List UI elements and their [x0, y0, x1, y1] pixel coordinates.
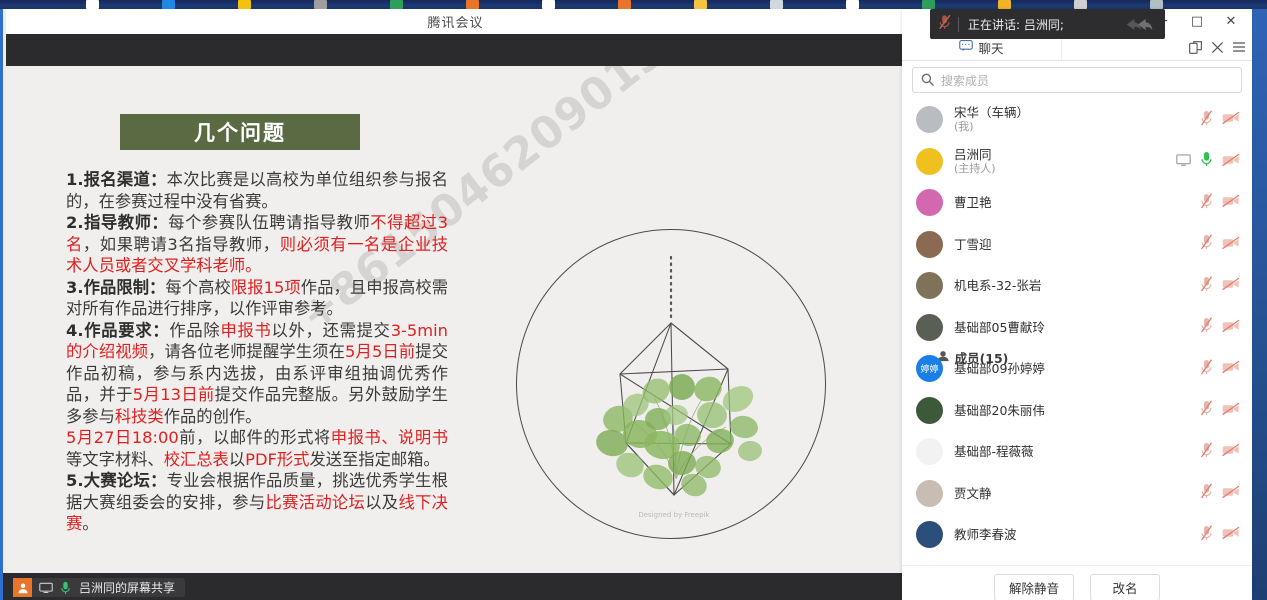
member-row[interactable]: 曹卫艳: [902, 182, 1252, 224]
taskbar-icon[interactable]: [618, 0, 631, 9]
hanging-planter-graphic: [516, 229, 826, 539]
member-name-block: 教师李春波: [954, 527, 1200, 542]
member-role: (主持人): [954, 162, 1176, 176]
screen-share-viewport: 腾讯会议 +8615046209013 几个问题 1.报名渠道：本次比赛是以高校…: [0, 9, 902, 600]
taskbar-icon[interactable]: [922, 0, 935, 9]
toast-divider: [958, 17, 959, 32]
member-role: (我): [954, 120, 1200, 134]
member-name: 丁雪迎: [954, 237, 1200, 252]
mic-muted-icon[interactable]: [1200, 359, 1213, 379]
member-row[interactable]: 基础部05曹献玲: [902, 307, 1252, 349]
slide-text-run: 作品除: [169, 321, 220, 340]
member-name: 贾文静: [954, 486, 1200, 501]
member-status-icons: [1200, 110, 1240, 130]
camera-off-icon[interactable]: [1222, 276, 1240, 295]
camera-off-icon[interactable]: [1222, 484, 1240, 503]
screen-root: 腾讯会议 +8615046209013 几个问题 1.报名渠道：本次比赛是以高校…: [0, 0, 1267, 600]
avatar: 婷婷: [916, 355, 943, 382]
search-placeholder: 搜索成员: [941, 72, 989, 89]
taskbar-icon[interactable]: [466, 0, 479, 9]
member-name-block: 丁雪迎: [954, 237, 1200, 252]
taskbar-icon[interactable]: [770, 0, 783, 9]
avatar: [916, 189, 943, 216]
camera-off-icon[interactable]: [1222, 525, 1240, 544]
member-status-icons: [1200, 442, 1240, 462]
taskbar-icon[interactable]: [846, 0, 859, 9]
muted-mic-icon: [938, 14, 952, 34]
close-window-button[interactable]: ✕: [1214, 10, 1248, 33]
avatar: [916, 438, 943, 465]
taskbar-icon[interactable]: [314, 0, 327, 9]
taskbar-icon[interactable]: [998, 0, 1011, 9]
mic-muted-icon[interactable]: [1200, 234, 1213, 254]
reply-arrows-icon[interactable]: [1123, 16, 1157, 33]
mic-icon: [60, 581, 71, 595]
slide-text-run: 等文字材料、: [66, 450, 164, 469]
member-name-block: 曹卫艳: [954, 195, 1200, 210]
avatar: [916, 231, 943, 258]
slide-illustration: Designed by Freepik: [516, 229, 826, 539]
presentation-slide: +8615046209013 几个问题 1.报名渠道：本次比赛是以高校为单位组织…: [6, 66, 905, 573]
member-row[interactable]: 宋华（车辆）(我): [902, 99, 1252, 141]
member-name-block: 宋华（车辆）(我): [954, 105, 1200, 134]
mic-muted-icon[interactable]: [1200, 400, 1213, 420]
taskbar-icon[interactable]: [694, 0, 707, 9]
member-name-block: 机电系-32-张岩: [954, 278, 1200, 293]
slide-body-text: 1.报名渠道：本次比赛是以高校为单位组织参与报名的，在参赛过程中没有省赛。2.指…: [66, 169, 448, 535]
mic-muted-icon[interactable]: [1200, 483, 1213, 503]
close-panel-icon[interactable]: [1207, 36, 1227, 58]
mic-muted-icon[interactable]: [1200, 110, 1213, 130]
camera-off-icon[interactable]: [1222, 359, 1240, 378]
shared-window-titlebar: 腾讯会议: [6, 9, 905, 34]
member-name-block: 基础部-程薇薇: [954, 444, 1200, 459]
slide-text-run: 以及: [365, 493, 398, 512]
member-name-block: 基础部20朱丽伟: [954, 403, 1200, 418]
slide-paragraph: 5月27日18:00前，以邮件的形式将申报书、说明书等文字材料、校汇总表以PDF…: [66, 427, 448, 470]
mic-muted-icon[interactable]: [1200, 442, 1213, 462]
member-name: 基础部05曹献玲: [954, 320, 1200, 335]
slide-text-highlight: 科技类: [115, 407, 164, 426]
mic-muted-icon[interactable]: [1200, 525, 1213, 545]
member-name-block: 贾文静: [954, 486, 1200, 501]
slide-title-text: 几个问题: [194, 117, 286, 147]
unmute-button[interactable]: 解除静音: [994, 574, 1074, 600]
share-status-pill[interactable]: 吕洲同的屏幕共享: [13, 578, 185, 597]
member-status-icons: [1176, 151, 1240, 171]
avatar: [916, 148, 943, 175]
meeting-app-title: 腾讯会议: [6, 12, 905, 31]
slide-paragraph-label: 4.作品要求：: [66, 321, 169, 340]
camera-off-icon[interactable]: [1222, 110, 1240, 129]
member-status-icons: [1200, 317, 1240, 337]
speaking-toast-text: 正在讲话: 吕洲同;: [968, 16, 1123, 33]
member-row[interactable]: 机电系-32-张岩: [902, 265, 1252, 307]
slide-text-highlight: PDF形式: [245, 450, 309, 469]
avatar: [916, 106, 943, 133]
taskbar-icon[interactable]: [238, 0, 251, 9]
slide-text-run: 。: [82, 514, 98, 533]
mic-on-icon[interactable]: [1200, 151, 1213, 171]
speaking-toast[interactable]: 正在讲话: 吕洲同;: [930, 9, 1165, 39]
member-name: 宋华（车辆）: [954, 105, 1200, 120]
slide-text-run: 以外，还需提交: [272, 321, 391, 340]
shared-window-toolbar-strip: [6, 34, 905, 66]
member-name-block: 基础部05曹献玲: [954, 320, 1200, 335]
member-status-icons: [1200, 525, 1240, 545]
rename-button[interactable]: 改名: [1090, 574, 1160, 600]
member-name: 吕洲同: [954, 147, 1176, 162]
illustration-credit: Designed by Freepik: [574, 511, 774, 519]
member-name: 机电系-32-张岩: [954, 278, 1200, 293]
member-row[interactable]: 丁雪迎: [902, 224, 1252, 266]
camera-off-icon[interactable]: [1222, 401, 1240, 420]
member-name-block: 吕洲同(主持人): [954, 147, 1176, 176]
screen-icon: [39, 582, 53, 594]
slide-text-highlight: 校汇总表: [164, 450, 229, 469]
slide-text-run: 每个参赛队伍聘请指导教师: [168, 213, 370, 232]
search-input[interactable]: 搜索成员: [912, 67, 1242, 93]
share-status-text: 吕洲同的屏幕共享: [79, 579, 175, 596]
slide-paragraph: 4.作品要求：作品除申报书以外，还需提交3-5min的介绍视频，请各位老师提醒学…: [66, 320, 448, 428]
camera-off-icon[interactable]: [1222, 152, 1240, 171]
desktop-taskbar[interactable]: [0, 0, 1267, 9]
taskbar-icon[interactable]: [1150, 0, 1163, 9]
member-name-block: 基础部09孙婷婷: [954, 361, 1200, 376]
slide-text-run: 发送至指定邮箱。: [309, 450, 439, 469]
meeting-side-panel: ─ □ ✕ 聊天 成员(15): [902, 9, 1252, 600]
maximize-button[interactable]: □: [1180, 10, 1214, 33]
slide-text-highlight: 5月5日前: [345, 342, 415, 361]
avatar: [916, 521, 943, 548]
taskbar-icon[interactable]: [390, 0, 403, 9]
taskbar-icon[interactable]: [86, 0, 99, 9]
member-row[interactable]: 教师李春波: [902, 514, 1252, 556]
member-row[interactable]: 贾文静: [902, 473, 1252, 515]
avatar: [916, 480, 943, 507]
taskbar-icon[interactable]: [1074, 0, 1087, 9]
slide-text-run: 前，以邮件的形式将: [179, 428, 331, 447]
member-name: 曹卫艳: [954, 195, 1200, 210]
member-status-icons: [1200, 234, 1240, 254]
desktop-background-right: [1252, 9, 1267, 600]
slide-paragraph-label: 5.大赛论坛：: [66, 471, 167, 490]
member-row[interactable]: 吕洲同(主持人): [902, 141, 1252, 183]
screen-share-icon: [1176, 152, 1191, 171]
camera-off-icon[interactable]: [1222, 235, 1240, 254]
member-name: 基础部-程薇薇: [954, 444, 1200, 459]
member-row[interactable]: 基础部-程薇薇: [902, 431, 1252, 473]
mic-muted-icon[interactable]: [1200, 193, 1213, 213]
search-icon: [921, 71, 934, 90]
slide-text-highlight: 比赛活动论坛: [265, 493, 365, 512]
avatar: [916, 272, 943, 299]
member-status-icons: [1200, 193, 1240, 213]
slide-text-highlight: 申报书: [220, 321, 271, 340]
member-status-icons: [1200, 400, 1240, 420]
member-name: 基础部09孙婷婷: [954, 361, 1200, 376]
member-status-icons: [1200, 276, 1240, 296]
member-status-icons: [1200, 359, 1240, 379]
slide-text-run: 每个高校: [165, 278, 230, 297]
slide-text-highlight: 5月13日前: [133, 385, 215, 404]
panel-footer: 解除静音 改名: [902, 565, 1252, 600]
slide-text-run: 作品的创作。: [164, 407, 262, 426]
slide-paragraph-label: 2.指导教师：: [66, 213, 168, 232]
person-icon: [13, 578, 32, 597]
slide-text-run: ，如果聘请3名指导教师，: [83, 235, 280, 254]
hamburger-menu-icon[interactable]: [1229, 36, 1249, 58]
avatar: [916, 314, 943, 341]
slide-text-run: 以: [229, 450, 245, 469]
member-list[interactable]: 宋华（车辆）(我)吕洲同(主持人)曹卫艳丁雪迎机电系-32-张岩基础部05曹献玲…: [902, 99, 1252, 565]
slide-paragraph-label: 3.作品限制：: [66, 278, 165, 297]
camera-off-icon[interactable]: [1222, 442, 1240, 461]
slide-text-highlight: 申报书、说明书: [331, 428, 448, 447]
member-name: 基础部20朱丽伟: [954, 403, 1200, 418]
slide-paragraph: 1.报名渠道：本次比赛是以高校为单位组织参与报名的，在参赛过程中没有省赛。: [66, 169, 448, 212]
mic-muted-icon[interactable]: [1200, 317, 1213, 337]
slide-text-run: ，请各位老师提醒学生须在: [148, 342, 345, 361]
slide-title-banner: 几个问题: [120, 114, 360, 150]
slide-paragraph: 3.作品限制：每个高校限报15项作品，且申报高校需对所有作品进行排序，以作评审参…: [66, 277, 448, 320]
member-name: 教师李春波: [954, 527, 1200, 542]
mic-muted-icon[interactable]: [1200, 276, 1213, 296]
popout-window-icon[interactable]: [1185, 36, 1205, 58]
taskbar-icon[interactable]: [162, 0, 175, 9]
member-row[interactable]: 婷婷基础部09孙婷婷: [902, 348, 1252, 390]
camera-off-icon[interactable]: [1222, 318, 1240, 337]
slide-paragraph-label: 1.报名渠道：: [66, 170, 167, 189]
camera-off-icon[interactable]: [1222, 193, 1240, 212]
taskbar-icon[interactable]: [542, 0, 555, 9]
member-row[interactable]: 基础部20朱丽伟: [902, 390, 1252, 432]
leaf-cluster: [594, 373, 763, 500]
member-status-icons: [1200, 483, 1240, 503]
member-search-area: 搜索成员: [902, 61, 1252, 99]
panel-tab-actions: [1185, 36, 1252, 58]
tab-chat-label: 聊天: [978, 38, 1003, 57]
slide-paragraph: 2.指导教师：每个参赛队伍聘请指导教师不得超过3名，如果聘请3名指导教师，则必须…: [66, 212, 448, 277]
chat-bubble-icon: [959, 40, 973, 55]
slide-paragraph: 5.大赛论坛：专业会根据作品质量，挑选优秀学生根据大赛组委会的安排，参与比赛活动…: [66, 470, 448, 535]
slide-text-highlight: 限报15项: [231, 278, 301, 297]
slide-text-highlight: 5月27日18:00: [66, 428, 179, 447]
avatar: [916, 397, 943, 424]
